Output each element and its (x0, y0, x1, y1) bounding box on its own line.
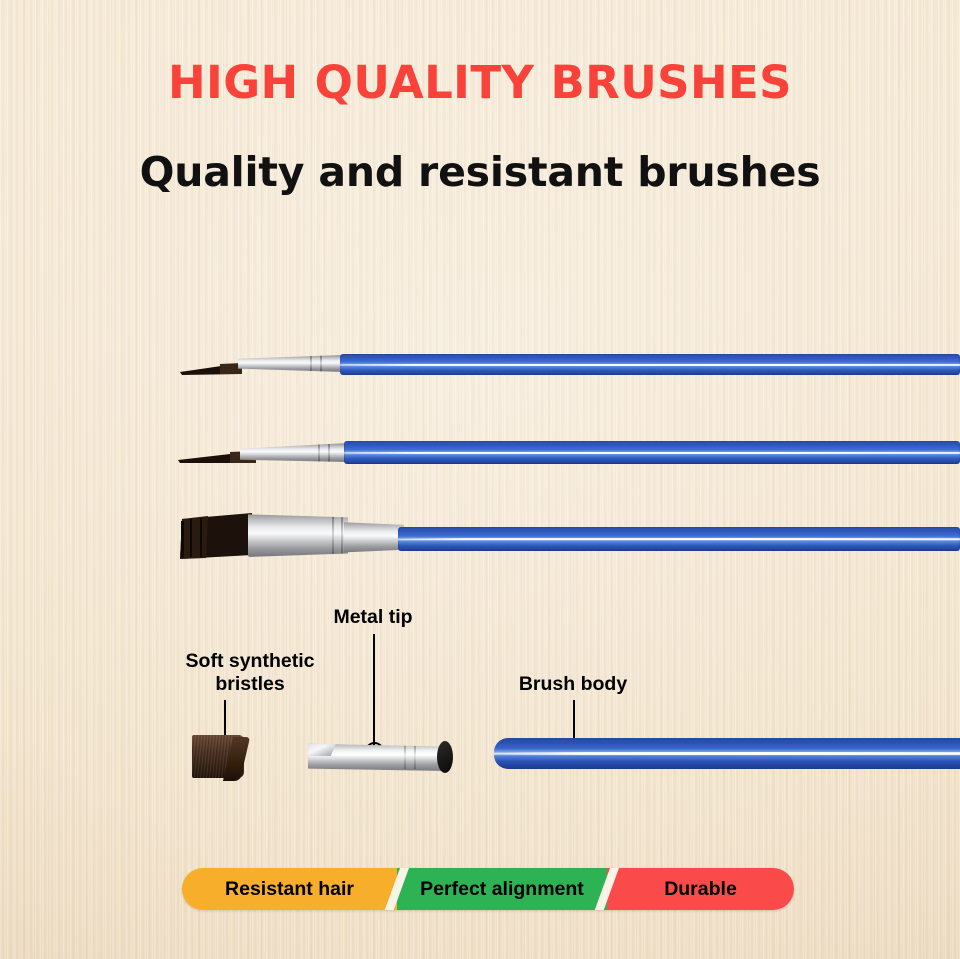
leader-line-metal-tip (373, 634, 375, 751)
page-subtitle: Quality and resistant brushes (0, 148, 960, 196)
feature-badge-bar: Resistant hair Perfect alignment Durable (182, 868, 794, 910)
badge-perfect-alignment[interactable]: Perfect alignment (397, 868, 607, 910)
ferrule-taper (344, 521, 404, 553)
part-metal-ferrule (308, 742, 450, 771)
badge-label: Resistant hair (225, 878, 354, 901)
part-bristle-block (192, 735, 244, 778)
background-vignette (0, 0, 960, 959)
badge-resistant-hair[interactable]: Resistant hair (182, 868, 397, 910)
page-title: HIGH QUALITY BRUSHES (0, 56, 960, 109)
badge-durable[interactable]: Durable (607, 868, 794, 910)
brush-handle (398, 527, 960, 551)
callout-label-brush-body: Brush body (473, 673, 673, 696)
brush-handle (344, 441, 960, 464)
brush-handle (340, 354, 960, 375)
badge-label: Durable (664, 878, 737, 901)
badge-label: Perfect alignment (420, 878, 584, 901)
callout-label-metal-tip: Metal tip (273, 606, 473, 629)
product-infographic: HIGH QUALITY BRUSHES Quality and resista… (0, 0, 960, 959)
part-brush-body (494, 738, 960, 769)
part-ferrule-endcap (437, 741, 453, 773)
callout-label-bristles: Soft synthetic bristles (120, 650, 380, 695)
metal-ferrule (248, 513, 348, 557)
